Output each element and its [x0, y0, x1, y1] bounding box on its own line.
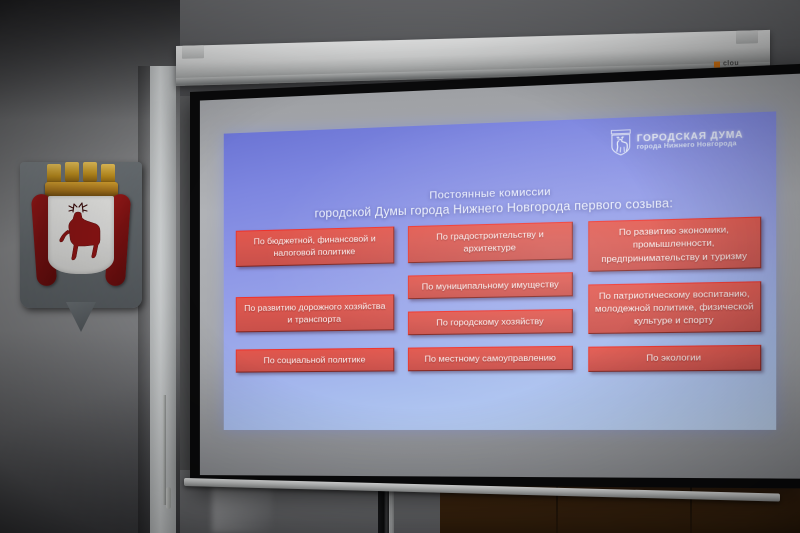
- duma-logo: ГОРОДСКАЯ ДУМА города Нижнего Новгорода: [610, 125, 743, 157]
- commission-box: По муниципальному имуществу: [408, 272, 573, 299]
- commission-column-left: По бюджетной, финансовой и налоговой пол…: [236, 227, 394, 422]
- commission-column-right: По развитию экономики, промышленности, п…: [588, 217, 761, 421]
- commission-box: По патриотическому воспитанию, молодежно…: [588, 281, 761, 334]
- emblem-plaque-point: [66, 302, 96, 332]
- crown-icon: [45, 164, 118, 197]
- commission-box: По развитию экономики, промышленности, п…: [588, 217, 761, 272]
- door-handle[interactable]: [166, 487, 171, 509]
- conference-room-photo: clou ГОРОДСКАЯ: [0, 0, 800, 533]
- duma-logo-line2: города Нижнего Новгорода: [637, 141, 744, 152]
- commission-box: По бюджетной, финансовой и налоговой пол…: [236, 227, 394, 267]
- slide-title: Постоянные комиссии городской Думы город…: [223, 178, 776, 223]
- screen-surface: ГОРОДСКАЯ ДУМА города Нижнего Новгорода …: [200, 74, 800, 479]
- commission-box: По городскому хозяйству: [408, 309, 573, 335]
- commission-column-center: По градостроительству и архитектуре По м…: [408, 222, 573, 421]
- commission-box: По экологии: [588, 345, 761, 371]
- commission-box: По развитию дорожного хозяйства и трансп…: [236, 294, 394, 332]
- brand-accent-square: [714, 61, 720, 67]
- wall-coat-of-arms: [20, 148, 142, 338]
- commission-columns: По бюджетной, финансовой и налоговой пол…: [236, 217, 761, 421]
- projection-screen: ГОРОДСКАЯ ДУМА города Нижнего Новгорода …: [190, 63, 800, 488]
- deer-coat-of-arms-icon: [610, 129, 631, 156]
- commission-box: По местному самоуправлению: [408, 346, 573, 372]
- commission-box: По градостроительству и архитектуре: [408, 222, 573, 263]
- deer-icon: [56, 200, 106, 268]
- commission-box: По социальной политике: [236, 348, 394, 373]
- presentation-slide: ГОРОДСКАЯ ДУМА города Нижнего Новгорода …: [223, 111, 776, 430]
